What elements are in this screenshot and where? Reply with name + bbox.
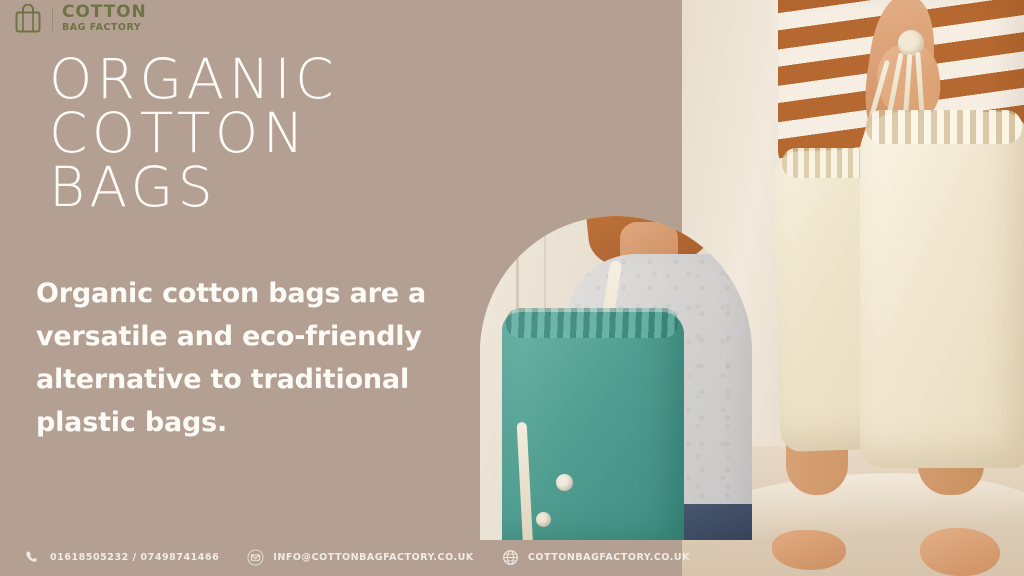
product-photo-teal-backpack (480, 216, 752, 540)
envelope-icon (247, 549, 264, 566)
backpack-toggle-upper (556, 474, 573, 491)
contact-bar: 01618505232 / 07498741466 INFO@COTTONBAG… (0, 538, 682, 576)
logo-divider (52, 7, 53, 31)
model-foot-right (920, 528, 1000, 576)
cotton-drawstring-bag-back (860, 112, 1024, 468)
logo-name-secondary: BAG FACTORY (62, 23, 147, 33)
logo-wordmark: COTTON BAG FACTORY (62, 4, 147, 33)
tote-bag-icon (13, 4, 43, 33)
phone-number: 01618505232 / 07498741466 (50, 552, 219, 563)
model-foot-left (772, 530, 846, 570)
website-url: COTTONBAGFACTORY.CO.UK (528, 552, 690, 563)
contact-email[interactable]: INFO@COTTONBAGFACTORY.CO.UK (247, 549, 474, 566)
body-description: Organic cotton bags are a versatile and … (36, 272, 431, 444)
logo-name-primary: COTTON (62, 4, 147, 21)
contact-phone[interactable]: 01618505232 / 07498741466 (24, 549, 219, 566)
teal-backpack-gather (506, 308, 678, 338)
phone-icon (24, 549, 41, 566)
cotton-bag-back-gather (866, 110, 1022, 144)
backpack-toggle-lower (536, 512, 551, 527)
promo-banner: COTTON BAG FACTORY ORGANIC COTTON BAGS O… (0, 0, 1024, 576)
contact-website[interactable]: COTTONBAGFACTORY.CO.UK (502, 549, 690, 566)
bag-cord-knot (898, 30, 924, 56)
globe-icon (502, 549, 519, 566)
email-address: INFO@COTTONBAGFACTORY.CO.UK (273, 552, 474, 563)
brand-logo[interactable]: COTTON BAG FACTORY (13, 4, 147, 33)
page-title: ORGANIC COTTON BAGS (49, 52, 338, 214)
